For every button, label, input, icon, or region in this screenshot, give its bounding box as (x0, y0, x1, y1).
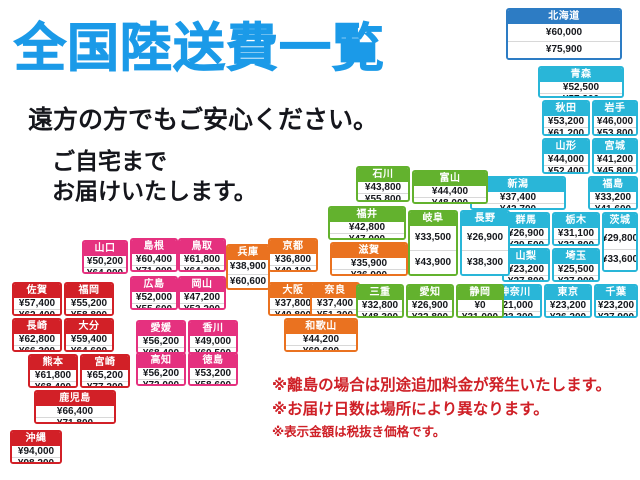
prefecture-fee-value: ¥57,400 (14, 298, 60, 309)
note-item: ※離島の場合は別途追加料金が発生いたします。 (272, 374, 636, 398)
prefecture-fee-value: ¥64,600 (66, 345, 112, 352)
prefecture-card: 広島¥52,000¥55,600 (130, 276, 178, 310)
shipping-fee-poster: 全国陸送費一覧 遠方の方でもご安心ください。 ご自宅まで お届けいたします。 北… (0, 0, 640, 480)
prefecture-card: 秋田¥53,200¥61,200 (542, 100, 590, 136)
prefecture-fee-list: ¥52,000¥55,600 (132, 292, 176, 310)
prefecture-fee-value: ¥38,300 (462, 250, 508, 275)
prefecture-fee-value: ¥58,800 (66, 309, 112, 316)
note-item: ※表示金額は税抜き価格です。 (272, 422, 636, 442)
prefecture-fee-value: ¥26,900 (408, 300, 452, 311)
prefecture-fee-value: ¥35,900 (332, 258, 406, 269)
prefecture-fee-value: ¥47,000 (330, 233, 404, 240)
prefecture-fee-value: ¥59,400 (66, 334, 112, 345)
prefecture-fee-list: ¥43,800¥55,800 (358, 182, 408, 202)
prefecture-fee-value: ¥71,800 (36, 417, 114, 424)
prefecture-fee-value: ¥23,200 (546, 300, 590, 311)
prefecture-fee-value: ¥27,800 (504, 275, 548, 282)
prefecture-fee-value: ¥32,800 (358, 300, 402, 311)
prefecture-card: 岩手¥46,000¥53,800 (592, 100, 638, 136)
prefecture-fee-list: ¥35,900¥36,900 (332, 258, 406, 276)
prefecture-fee-value: ¥23,200 (596, 300, 636, 311)
prefecture-fee-value: ¥75,900 (508, 41, 620, 59)
prefecture-card: 岐阜¥33,500¥43,900 (408, 210, 458, 276)
prefecture-fee-value: ¥43,900 (410, 250, 456, 275)
prefecture-card: 鳥取¥61,800¥64,200 (178, 238, 226, 272)
prefecture-fee-value: ¥33,500 (410, 226, 456, 250)
prefecture-card: 福岡¥55,200¥58,800 (64, 282, 114, 316)
prefecture-fee-value: ¥33,200 (590, 192, 636, 203)
prefecture-fee-list: ¥25,500¥27,900 (554, 264, 598, 282)
prefecture-fee-value: ¥62,400 (14, 309, 60, 316)
prefecture-card: 山口¥50,200¥64,000 (82, 240, 128, 274)
prefecture-card: 福井¥42,800¥47,000 (328, 206, 406, 240)
prefecture-fee-list: ¥94,000¥98,200 (12, 446, 60, 464)
prefecture-fee-value: ¥36,800 (270, 254, 316, 265)
prefecture-fee-value: ¥25,500 (554, 264, 598, 275)
prefecture-fee-value: ¥56,200 (138, 368, 184, 379)
prefecture-card: 山形¥44,000¥52,400 (542, 138, 590, 174)
prefecture-fee-value: ¥48,000 (414, 197, 486, 204)
prefecture-card: 徳島¥53,200¥58,600 (188, 352, 238, 386)
prefecture-card: 岡山¥47,200¥53,200 (178, 276, 226, 310)
prefecture-name: 兵庫 (228, 246, 268, 260)
prefecture-card: 福島¥33,200¥41,600 (588, 176, 638, 210)
prefecture-name: 福島 (590, 178, 636, 192)
prefecture-card: 愛知¥26,900¥32,800 (406, 284, 454, 318)
prefecture-fee-value: ¥33,600 (604, 249, 636, 271)
prefecture-fee-value: ¥27,900 (554, 275, 598, 282)
prefecture-card: 宮城¥41,200¥45,800 (592, 138, 638, 174)
prefecture-card: 三重¥32,800¥48,300 (356, 284, 404, 318)
prefecture-card: 石川¥43,800¥55,800 (356, 166, 410, 202)
prefecture-name: 鳥取 (180, 240, 224, 254)
prefecture-name: 香川 (190, 322, 236, 336)
prefecture-fee-value: ¥44,400 (414, 186, 486, 197)
prefecture-fee-value: ¥55,200 (66, 298, 112, 309)
subtitle-secondary-line2: お届けいたします。 (52, 176, 257, 206)
prefecture-fee-value: ¥53,200 (180, 303, 224, 310)
prefecture-fee-list: ¥61,800¥64,200 (180, 254, 224, 272)
subtitle-primary: 遠方の方でもご安心ください。 (28, 100, 378, 136)
prefecture-fee-list: ¥44,400¥48,000 (414, 186, 486, 204)
prefecture-card: 京都¥36,800¥40,100 (268, 238, 318, 272)
prefecture-fee-list: ¥26,900¥38,300 (462, 226, 508, 274)
prefecture-fee-list: ¥55,200¥58,800 (66, 298, 112, 316)
prefecture-fee-list: ¥33,200¥41,600 (590, 192, 636, 210)
prefecture-name: 山口 (84, 242, 126, 256)
prefecture-name: 福岡 (66, 284, 112, 298)
prefecture-fee-value: ¥56,200 (138, 336, 184, 347)
prefecture-name: 熊本 (30, 356, 76, 370)
prefecture-fee-value: ¥38,900 (228, 260, 268, 274)
prefecture-fee-list: ¥41,200¥45,800 (594, 154, 636, 174)
prefecture-fee-value: ¥62,800 (14, 334, 60, 345)
prefecture-card: 鹿児島¥66,400¥71,800 (34, 390, 116, 424)
prefecture-fee-value: ¥94,000 (12, 446, 60, 457)
prefecture-fee-list: ¥56,200¥72,000 (138, 368, 184, 386)
prefecture-fee-value: ¥29,800 (604, 228, 636, 249)
prefecture-name: 愛知 (408, 286, 452, 300)
prefecture-fee-value: ¥64,000 (84, 267, 126, 274)
prefecture-fee-value: ¥53,200 (190, 368, 236, 379)
prefecture-fee-value: ¥52,400 (544, 165, 588, 174)
prefecture-fee-list: ¥31,100¥32,800 (554, 228, 598, 246)
prefecture-fee-value: ¥55,800 (358, 193, 408, 202)
prefecture-fee-list: ¥65,200¥77,200 (82, 370, 128, 388)
prefecture-fee-value: ¥61,800 (180, 254, 224, 265)
prefecture-fee-list: ¥52,500¥57,300 (540, 82, 622, 98)
prefecture-fee-list: ¥60,000¥75,900 (508, 24, 620, 58)
prefecture-fee-value: ¥31,000 (458, 311, 502, 318)
prefecture-fee-value: ¥53,200 (544, 116, 588, 127)
prefecture-name: 宮城 (594, 140, 636, 154)
prefecture-card: 長野¥26,900¥38,300 (460, 210, 510, 276)
prefecture-card: 埼玉¥25,500¥27,900 (552, 248, 600, 282)
prefecture-fee-value: ¥57,300 (540, 93, 622, 98)
prefecture-fee-value: ¥26,900 (504, 228, 548, 239)
prefecture-name: 秋田 (544, 102, 588, 116)
prefecture-fee-value: ¥37,400 (312, 298, 358, 309)
prefecture-fee-list: ¥33,500¥43,900 (410, 226, 456, 274)
prefecture-fee-value: ¥45,800 (594, 165, 636, 174)
prefecture-fee-list: ¥53,200¥61,200 (544, 116, 588, 136)
prefecture-name: 佐賀 (14, 284, 60, 298)
prefecture-fee-list: ¥44,200¥69,600 (286, 334, 356, 352)
prefecture-fee-value: ¥69,600 (286, 345, 356, 352)
prefecture-fee-value: ¥51,300 (312, 309, 358, 316)
prefecture-fee-value: ¥42,800 (330, 222, 404, 233)
prefecture-fee-value: ¥48,300 (358, 311, 402, 318)
prefecture-fee-value: ¥40,100 (270, 265, 316, 272)
prefecture-name: 青森 (540, 68, 622, 82)
page-title: 全国陸送費一覧 (14, 6, 385, 81)
prefecture-name: 奈良 (312, 284, 358, 298)
prefecture-name: 和歌山 (286, 320, 356, 334)
prefecture-fee-value: ¥36,900 (332, 269, 406, 276)
prefecture-card: 千葉¥23,200¥27,900 (594, 284, 638, 318)
prefecture-fee-value: ¥43,800 (358, 182, 408, 193)
prefecture-fee-value: ¥72,000 (138, 379, 184, 386)
prefecture-fee-value: ¥41,200 (594, 154, 636, 165)
prefecture-fee-value: ¥61,200 (544, 127, 588, 136)
prefecture-fee-list: ¥66,400¥71,800 (36, 406, 114, 424)
prefecture-fee-value: ¥41,600 (590, 203, 636, 210)
prefecture-fee-value: ¥31,100 (554, 228, 598, 239)
prefecture-fee-value: ¥44,200 (286, 334, 356, 345)
prefecture-fee-list: ¥23,200¥27,900 (596, 300, 636, 318)
prefecture-fee-value: ¥49,000 (190, 336, 236, 347)
prefecture-card: 長崎¥62,800¥66,300 (12, 318, 62, 352)
prefecture-fee-list: ¥26,900¥32,800 (408, 300, 452, 318)
prefecture-name: 長野 (462, 212, 508, 226)
prefecture-fee-value: ¥0 (458, 300, 502, 311)
prefecture-name: 富山 (414, 172, 486, 186)
prefecture-name: 愛媛 (138, 322, 184, 336)
prefecture-name: 鹿児島 (36, 392, 114, 406)
prefecture-card: 栃木¥31,100¥32,800 (552, 212, 600, 246)
prefecture-name: 栃木 (554, 214, 598, 228)
prefecture-fee-value: ¥55,600 (132, 303, 176, 310)
prefecture-name: 滋賀 (332, 244, 406, 258)
prefecture-name: 石川 (358, 168, 408, 182)
prefecture-fee-list: ¥57,400¥62,400 (14, 298, 60, 316)
prefecture-fee-value: ¥77,200 (82, 381, 128, 388)
prefecture-fee-value: ¥60,400 (132, 254, 176, 265)
prefecture-fee-list: ¥23,200¥26,200 (546, 300, 590, 318)
prefecture-fee-value: ¥65,200 (82, 370, 128, 381)
prefecture-fee-list: ¥47,200¥53,200 (180, 292, 224, 310)
prefecture-card: 大分¥59,400¥64,600 (64, 318, 114, 352)
prefecture-fee-value: ¥29,500 (504, 239, 548, 246)
subtitle-secondary-line1: ご自宅まで (52, 146, 257, 176)
prefecture-name: 山形 (544, 140, 588, 154)
prefecture-card: 沖縄¥94,000¥98,200 (10, 430, 62, 464)
prefecture-card: 北海道¥60,000¥75,900 (506, 8, 622, 60)
notes-block: ※離島の場合は別途追加料金が発生いたします。 ※お届け日数は場所により異なります… (272, 374, 636, 442)
prefecture-card: 宮崎¥65,200¥77,200 (80, 354, 130, 388)
prefecture-name: 京都 (270, 240, 316, 254)
prefecture-fee-list: ¥0¥31,000 (458, 300, 502, 318)
prefecture-card: 奈良¥37,400¥51,300 (310, 282, 360, 316)
prefecture-name: 埼玉 (554, 250, 598, 264)
prefecture-fee-value: ¥58,600 (190, 379, 236, 386)
prefecture-name: 群馬 (504, 214, 548, 228)
prefecture-fee-value: ¥98,200 (12, 457, 60, 464)
prefecture-card: 佐賀¥57,400¥62,400 (12, 282, 62, 316)
prefecture-card: 青森¥52,500¥57,300 (538, 66, 624, 98)
prefecture-fee-value: ¥23,200 (504, 264, 548, 275)
prefecture-fee-value: ¥26,200 (546, 311, 590, 318)
prefecture-fee-value: ¥71,000 (132, 265, 176, 272)
prefecture-fee-value: ¥32,800 (554, 239, 598, 246)
prefecture-fee-list: ¥60,400¥71,000 (132, 254, 176, 272)
prefecture-card: 和歌山¥44,200¥69,600 (284, 318, 358, 352)
prefecture-name: 東京 (546, 286, 590, 300)
prefecture-name: 福井 (330, 208, 404, 222)
prefecture-card: 茨城¥29,800¥33,600 (602, 212, 638, 272)
prefecture-fee-value: ¥60,600 (228, 274, 268, 289)
prefecture-fee-value: ¥50,200 (84, 256, 126, 267)
prefecture-fee-list: ¥32,800¥48,300 (358, 300, 402, 318)
prefecture-name: 岡山 (180, 278, 224, 292)
prefecture-fee-value: ¥60,000 (508, 24, 620, 41)
prefecture-name: 島根 (132, 240, 176, 254)
prefecture-name: 千葉 (596, 286, 636, 300)
prefecture-fee-value: ¥32,800 (408, 311, 452, 318)
prefecture-card: 富山¥44,400¥48,000 (412, 170, 488, 204)
prefecture-card: 滋賀¥35,900¥36,900 (330, 242, 408, 276)
prefecture-card: 東京¥23,200¥26,200 (544, 284, 592, 318)
prefecture-fee-value: ¥53,800 (594, 127, 636, 136)
prefecture-name: 岐阜 (410, 212, 456, 226)
prefecture-fee-value: ¥61,800 (30, 370, 76, 381)
subtitle-secondary: ご自宅まで お届けいたします。 (52, 146, 257, 206)
prefecture-name: 高知 (138, 354, 184, 368)
prefecture-fee-value: ¥68,400 (30, 381, 76, 388)
prefecture-fee-list: ¥29,800¥33,600 (604, 228, 636, 270)
prefecture-fee-list: ¥23,200¥27,800 (504, 264, 548, 282)
prefecture-fee-value: ¥42,700 (472, 203, 564, 210)
prefecture-fee-value: ¥27,900 (596, 311, 636, 318)
prefecture-fee-list: ¥61,800¥68,400 (30, 370, 76, 388)
prefecture-fee-value: ¥44,000 (544, 154, 588, 165)
prefecture-card: 愛媛¥56,200¥68,400 (136, 320, 186, 354)
prefecture-name: 宮崎 (82, 356, 128, 370)
prefecture-fee-list: ¥37,400¥51,300 (312, 298, 358, 316)
note-item: ※お届け日数は場所により異なります。 (272, 398, 636, 422)
prefecture-name: 山梨 (504, 250, 548, 264)
prefecture-name: 大分 (66, 320, 112, 334)
prefecture-fee-value: ¥26,900 (462, 226, 508, 250)
prefecture-fee-value: ¥66,400 (36, 406, 114, 417)
prefecture-name: 茨城 (604, 214, 636, 228)
prefecture-fee-list: ¥50,200¥64,000 (84, 256, 126, 274)
prefecture-fee-value: ¥52,500 (540, 82, 622, 93)
prefecture-name: 北海道 (508, 10, 620, 24)
prefecture-name: 徳島 (190, 354, 236, 368)
prefecture-fee-list: ¥62,800¥66,300 (14, 334, 60, 352)
prefecture-fee-value: ¥46,000 (594, 116, 636, 127)
prefecture-name: 岩手 (594, 102, 636, 116)
prefecture-fee-list: ¥42,800¥47,000 (330, 222, 404, 240)
prefecture-fee-list: ¥46,000¥53,800 (594, 116, 636, 136)
prefecture-card: 高知¥56,200¥72,000 (136, 352, 186, 386)
prefecture-fee-value: ¥64,200 (180, 265, 224, 272)
prefecture-fee-list: ¥38,900¥60,600 (228, 260, 268, 288)
prefecture-card: 静岡¥0¥31,000 (456, 284, 504, 318)
prefecture-fee-value: ¥52,000 (132, 292, 176, 303)
prefecture-fee-value: ¥47,200 (180, 292, 224, 303)
prefecture-name: 沖縄 (12, 432, 60, 446)
prefecture-fee-list: ¥44,000¥52,400 (544, 154, 588, 174)
prefecture-fee-list: ¥53,200¥58,600 (190, 368, 236, 386)
prefecture-card: 熊本¥61,800¥68,400 (28, 354, 78, 388)
prefecture-fee-list: ¥36,800¥40,100 (270, 254, 316, 272)
prefecture-name: 長崎 (14, 320, 60, 334)
prefecture-fee-list: ¥59,400¥64,600 (66, 334, 112, 352)
prefecture-card: 島根¥60,400¥71,000 (130, 238, 178, 272)
prefecture-name: 三重 (358, 286, 402, 300)
prefecture-card: 兵庫¥38,900¥60,600 (226, 244, 270, 290)
prefecture-card: 香川¥49,000¥60,500 (188, 320, 238, 354)
prefecture-fee-value: ¥66,300 (14, 345, 60, 352)
prefecture-fee-list: ¥26,900¥29,500 (504, 228, 548, 246)
prefecture-name: 広島 (132, 278, 176, 292)
prefecture-name: 静岡 (458, 286, 502, 300)
